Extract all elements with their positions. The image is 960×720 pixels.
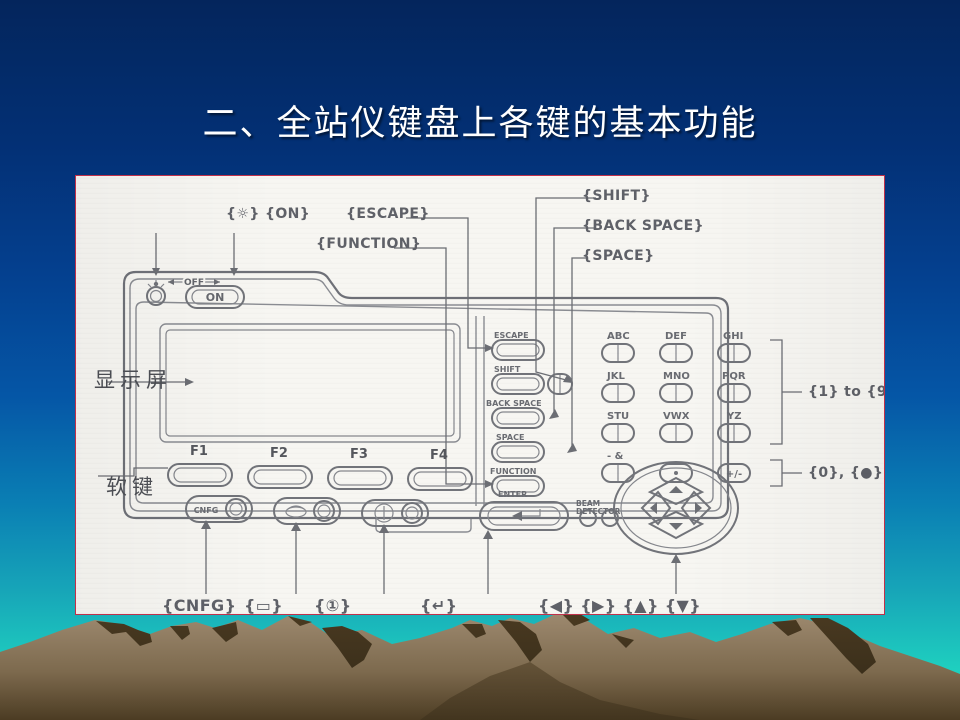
enter-key-label: ENTER (498, 490, 527, 499)
key-vwx-label: VWX (663, 411, 689, 422)
key-yz-label: YZ (727, 411, 742, 422)
back-space-key-label: BACK SPACE (486, 399, 542, 408)
escape-key-label: ESCAPE (494, 331, 529, 340)
numeric-0-dot-sign-callout: {0}, {●},{+/-} (808, 465, 885, 481)
display-screen (160, 324, 460, 442)
key-mno-label: MNO (663, 371, 690, 382)
escape-callout: {ESCAPE} (346, 206, 430, 222)
numeric-1-9-callout: {1} to {9} (808, 384, 885, 400)
svg-text:+/-: +/- (726, 469, 742, 480)
key-ghi-label: GHI (723, 331, 743, 342)
f4-label: F4 (430, 448, 448, 463)
back-space-callout: {BACK SPACE} (582, 218, 704, 234)
svg-text:ON: ON (206, 291, 225, 304)
power-callout: {①} (314, 596, 352, 615)
f3-label: F3 (350, 447, 368, 462)
light-on-callout: {☼} {ON} (226, 206, 310, 222)
total-station-keyboard-drawing: .ol{fill:none;stroke:#6f7178;stroke-widt… (76, 176, 885, 615)
key-def-label: DEF (665, 331, 687, 342)
f1-label: F1 (190, 444, 208, 459)
shift-key[interactable] (492, 374, 572, 394)
f2-label: F2 (270, 446, 288, 461)
key-jkl-label: JKL (607, 371, 625, 382)
figure-image: .ol{fill:none;stroke:#6f7178;stroke-widt… (76, 176, 884, 614)
function-key-label: FUNCTION (490, 467, 536, 476)
space-key-label: SPACE (496, 433, 524, 442)
soft-key-f3[interactable] (328, 467, 392, 489)
figure-panel: .ol{fill:none;stroke:#6f7178;stroke-widt… (75, 175, 885, 615)
lamp-icon (148, 280, 164, 287)
key-stu-label: STU (607, 411, 629, 422)
enter-callout: {↵} (420, 596, 457, 615)
soft-key-callout: 软键 (106, 471, 158, 501)
key-pqr-label: PQR (722, 371, 746, 382)
svg-text:CNFG: CNFG (194, 506, 219, 515)
beam-detector-label: BEAM DETECTOR (576, 500, 636, 516)
soft-key-f2[interactable] (248, 466, 312, 488)
key-abc-label: ABC (607, 331, 630, 342)
shift-key-label: SHIFT (494, 365, 520, 374)
shift-callout: {SHIFT} (582, 188, 651, 204)
soft-key-f4[interactable] (408, 468, 472, 490)
arrow-keys-callout: {◀} {▶} {▲} {▼} (538, 596, 701, 615)
page-title: 二、全站仪键盘上各键的基本功能 (0, 95, 960, 146)
key-dash-amp-label: - & (607, 451, 623, 462)
on-button[interactable]: ON (186, 286, 244, 308)
power-key[interactable] (362, 500, 428, 526)
display-callout: 显示屏 (94, 364, 172, 394)
soft-key-f1[interactable] (168, 464, 232, 486)
function-callout: {FUNCTION} (316, 236, 421, 252)
space-key[interactable] (492, 442, 544, 462)
space-callout: {SPACE} (582, 248, 654, 264)
tilt-callout: {▭} (244, 596, 283, 615)
back-space-key[interactable] (492, 408, 544, 428)
enter-key[interactable] (480, 502, 568, 530)
cnfg-callout: {CNFG} (162, 596, 236, 615)
